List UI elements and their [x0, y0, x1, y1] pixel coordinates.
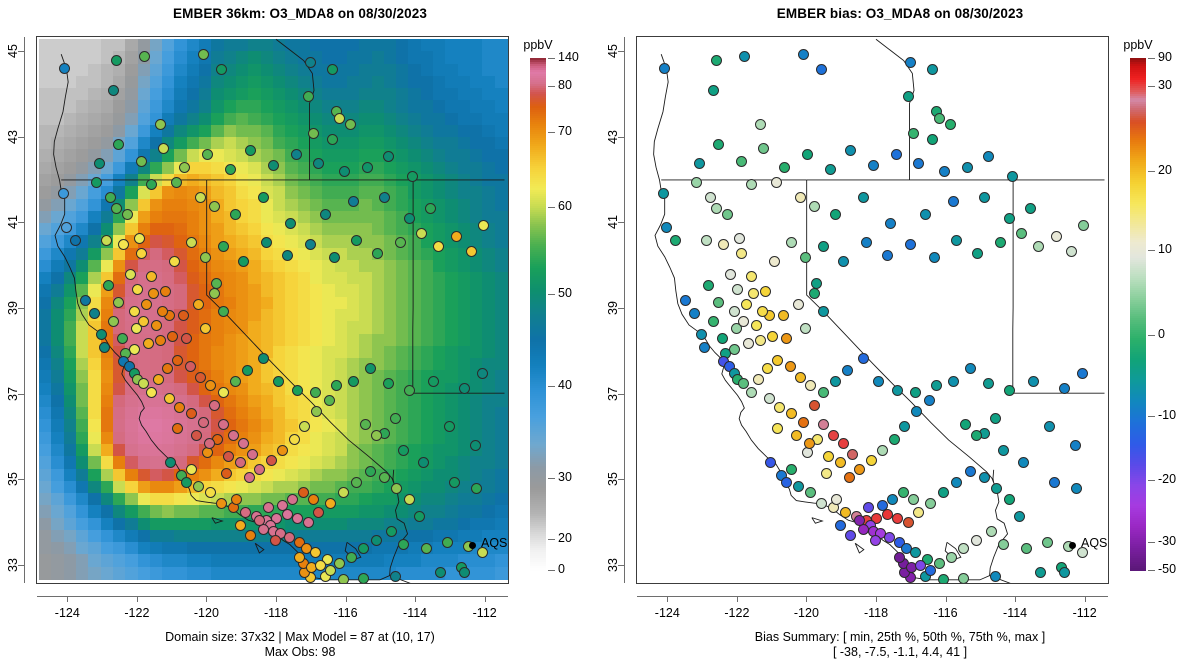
station-marker [414, 511, 425, 522]
x-tick-label: -112 [1060, 606, 1110, 620]
station-marker [1044, 421, 1055, 432]
station-marker [218, 419, 229, 430]
station-marker [1035, 567, 1046, 578]
station-marker [905, 57, 916, 68]
station-marker [811, 278, 822, 289]
station-marker [764, 393, 775, 404]
station-marker [284, 532, 295, 543]
x-tick-label: -124 [642, 606, 692, 620]
station-marker [877, 445, 888, 456]
station-marker [708, 85, 719, 96]
y-tick-label: 41 [5, 205, 21, 239]
station-marker [894, 552, 905, 563]
colorbar-tick-label: 70 [558, 124, 572, 138]
caption-bias-line2: [ -38, -7.5, -1.1, 4.4, 41 ] [600, 645, 1200, 660]
station-marker [898, 487, 909, 498]
station-marker [117, 333, 128, 344]
x-tick [67, 596, 68, 602]
station-marker [717, 333, 728, 344]
station-marker [694, 158, 705, 169]
station-marker [268, 160, 279, 171]
colorbar-tick [1148, 335, 1155, 336]
station-marker [938, 487, 949, 498]
colorbar-tick-label: 30 [558, 470, 572, 484]
colorbar-tick [1148, 86, 1155, 87]
station-marker [313, 507, 324, 518]
x-tick-label: -120 [781, 606, 831, 620]
station-marker [477, 368, 488, 379]
station-marker [774, 402, 785, 413]
station-marker [795, 192, 806, 203]
figure-root: EMBER 36km: O3_MDA8 on 08/30/2023 AQS -1… [0, 0, 1200, 672]
x-tick-label: -112 [460, 606, 510, 620]
station-marker [785, 361, 796, 372]
station-marker [94, 158, 105, 169]
x-tick-label: -122 [712, 606, 762, 620]
colorbar-tick-label: 90 [1158, 50, 1172, 64]
station-marker [680, 295, 691, 306]
station-marker [962, 162, 973, 173]
station-marker [840, 507, 851, 518]
y-tick-label: 37 [5, 377, 21, 411]
station-marker [658, 188, 669, 199]
station-marker [171, 177, 182, 188]
panel-right-title: EMBER bias: O3_MDA8 on 08/30/2023 [600, 6, 1200, 21]
x-tick [1015, 596, 1016, 602]
colorbar-tick [548, 86, 555, 87]
plot-area-bias[interactable]: AQS [636, 36, 1109, 584]
station-marker [459, 567, 470, 578]
station-marker [858, 353, 869, 364]
x-axis-line [37, 596, 508, 597]
station-marker [757, 306, 768, 317]
station-marker [905, 239, 916, 250]
map-outlines-model [37, 37, 508, 583]
panel-model: EMBER 36km: O3_MDA8 on 08/30/2023 AQS -1… [0, 0, 600, 672]
station-marker [108, 85, 119, 96]
station-marker [1007, 171, 1018, 182]
y-tick-label: 45 [5, 34, 21, 68]
station-marker [670, 235, 681, 246]
y-tick-label: 35 [5, 462, 21, 496]
station-marker [289, 434, 300, 445]
station-marker [908, 128, 919, 139]
station-marker [804, 438, 815, 449]
station-marker [1025, 203, 1036, 214]
station-marker [308, 128, 319, 139]
station-marker [282, 250, 293, 261]
station-marker [823, 451, 834, 462]
station-marker [258, 192, 269, 203]
station-marker [990, 413, 1001, 424]
station-marker [778, 310, 789, 321]
colorbar-tick-label: 0 [558, 562, 565, 576]
station-marker [292, 385, 303, 396]
colorbar-tick-label: 50 [558, 286, 572, 300]
colorbar-tick [548, 207, 555, 208]
station-marker [691, 177, 702, 188]
station-marker [404, 385, 415, 396]
plot-area-model[interactable]: AQS [36, 36, 509, 584]
colorbar-tick-label: -20 [1158, 472, 1176, 486]
x-tick [1085, 596, 1086, 602]
station-marker [329, 252, 340, 263]
station-marker [1077, 368, 1088, 379]
station-marker [1049, 477, 1060, 488]
colorbar-gradient [1130, 58, 1146, 570]
station-marker [105, 192, 116, 203]
station-marker [345, 119, 356, 130]
station-marker [701, 235, 712, 246]
station-marker [136, 248, 147, 259]
x-tick-label: -120 [181, 606, 231, 620]
station-marker [218, 306, 229, 317]
station-marker [971, 430, 982, 441]
station-marker [934, 113, 945, 124]
station-marker [1051, 231, 1062, 242]
station-marker [291, 149, 302, 160]
station-marker [164, 393, 175, 404]
station-marker [887, 494, 898, 505]
station-marker [371, 430, 382, 441]
station-marker [200, 323, 211, 334]
station-marker [818, 306, 829, 317]
station-marker [889, 434, 900, 445]
station-marker [270, 535, 281, 546]
station-marker [327, 64, 338, 75]
colorbar-tick [1148, 171, 1155, 172]
station-marker [781, 477, 792, 488]
station-marker [325, 565, 336, 576]
x-tick [346, 596, 347, 602]
station-marker [70, 235, 81, 246]
station-marker [908, 494, 919, 505]
station-marker [305, 57, 316, 68]
x-tick [667, 596, 668, 602]
station-marker [451, 231, 462, 242]
station-marker [729, 306, 740, 317]
colorbar-tick [1148, 416, 1155, 417]
station-marker [157, 306, 168, 317]
station-marker [877, 500, 888, 511]
y-tick-label: 43 [605, 120, 621, 154]
station-marker [816, 498, 827, 509]
station-marker [891, 149, 902, 160]
station-marker [703, 280, 714, 291]
station-marker [659, 63, 670, 74]
x-tick [485, 596, 486, 602]
colorbar-tick [1148, 570, 1155, 571]
station-marker [216, 498, 227, 509]
colorbar-tick-label: 60 [558, 199, 572, 213]
station-marker [972, 248, 983, 259]
colorbar-tick [548, 478, 555, 479]
station-marker [1059, 567, 1070, 578]
station-marker [983, 378, 994, 389]
station-marker [990, 571, 1001, 582]
station-marker [884, 532, 895, 543]
station-marker [287, 494, 298, 505]
station-marker [1018, 457, 1029, 468]
station-marker [858, 192, 869, 203]
station-marker [425, 203, 436, 214]
station-marker [892, 385, 903, 396]
station-marker [931, 380, 942, 391]
station-marker [195, 372, 206, 383]
station-marker [854, 464, 865, 475]
y-tick-label: 39 [605, 291, 621, 325]
station-marker [223, 451, 234, 462]
colorbar-tick-label: -30 [1158, 534, 1176, 548]
station-marker [913, 158, 924, 169]
station-marker [230, 376, 241, 387]
x-tick [415, 596, 416, 602]
station-marker [390, 571, 401, 582]
station-marker [395, 237, 406, 248]
colorbar-tick [548, 132, 555, 133]
station-marker [113, 139, 124, 150]
colorbar-gradient [530, 58, 546, 570]
station-marker [828, 430, 839, 441]
map-outlines-bias [637, 37, 1108, 583]
station-marker [830, 376, 841, 387]
x-tick [206, 596, 207, 602]
station-marker [372, 248, 383, 259]
x-tick [137, 596, 138, 602]
colorbar-tick [548, 570, 555, 571]
station-marker [216, 64, 227, 75]
station-marker [444, 421, 455, 432]
station-marker [324, 395, 335, 406]
station-marker [835, 520, 846, 531]
station-marker [225, 164, 236, 175]
station-marker [910, 387, 921, 398]
station-marker [371, 535, 382, 546]
x-tick-label: -124 [42, 606, 92, 620]
y-tick-label: 45 [605, 34, 621, 68]
x-tick [946, 596, 947, 602]
panel-bias: EMBER bias: O3_MDA8 on 08/30/2023 AQS -1… [600, 0, 1200, 672]
station-marker [1066, 246, 1077, 257]
station-marker [407, 171, 418, 182]
station-marker [334, 113, 345, 124]
station-marker [80, 295, 91, 306]
station-marker [228, 430, 239, 441]
station-marker [882, 250, 893, 261]
station-marker [101, 235, 112, 246]
station-marker [209, 201, 220, 212]
station-marker [466, 246, 477, 257]
station-marker [313, 158, 324, 169]
station-marker [459, 383, 470, 394]
y-tick-label: 33 [5, 548, 21, 582]
station-marker [240, 507, 251, 518]
y-tick-label: 39 [5, 291, 21, 325]
x-tick [737, 596, 738, 602]
station-marker [442, 537, 453, 548]
station-marker [818, 419, 829, 430]
colorbar-tick [548, 294, 555, 295]
y-tick-label: 37 [605, 377, 621, 411]
panel-left-title: EMBER 36km: O3_MDA8 on 08/30/2023 [0, 6, 600, 21]
station-marker [435, 567, 446, 578]
station-marker [258, 353, 269, 364]
x-tick [276, 596, 277, 602]
colorbar-tick-label: 0 [1158, 327, 1165, 341]
colorbar-tick-label: 20 [1158, 163, 1172, 177]
station-marker [946, 552, 957, 563]
station-marker [800, 323, 811, 334]
station-marker [713, 139, 724, 150]
station-marker [689, 308, 700, 319]
station-marker [174, 402, 185, 413]
station-marker [449, 477, 460, 488]
station-marker [383, 378, 394, 389]
station-marker [870, 535, 881, 546]
x-tick-label: -122 [112, 606, 162, 620]
station-marker [1004, 385, 1015, 396]
station-marker [61, 222, 72, 233]
colorbar-tick [1148, 480, 1155, 481]
station-marker [235, 520, 246, 531]
station-marker [254, 464, 265, 475]
station-marker [247, 449, 258, 460]
colorbar-tick-label: -50 [1158, 562, 1176, 576]
station-marker [736, 248, 747, 259]
station-marker [338, 574, 349, 584]
x-tick-label: -114 [390, 606, 440, 620]
aqs-legend-dot [1069, 542, 1076, 549]
colorbar-tick-label: -10 [1158, 408, 1176, 422]
station-marker [346, 552, 357, 563]
colorbar-tick-label: 140 [558, 50, 579, 64]
station-marker [830, 209, 841, 220]
station-marker [143, 338, 154, 349]
station-marker [825, 164, 836, 175]
y-tick-label: 41 [605, 205, 621, 239]
station-marker [138, 316, 149, 327]
station-marker [868, 160, 879, 171]
y-tick-label: 43 [5, 120, 21, 154]
colorbar-tick-label: 80 [558, 78, 572, 92]
aqs-legend-dot [469, 542, 476, 549]
station-marker [771, 177, 782, 188]
colorbar-tick-label: 20 [558, 531, 572, 545]
y-tick-label: 33 [605, 548, 621, 582]
station-marker [362, 162, 373, 173]
y-tick-label: 35 [605, 462, 621, 496]
x-tick [806, 596, 807, 602]
station-marker [103, 280, 114, 291]
station-marker [929, 252, 940, 263]
station-marker [995, 237, 1006, 248]
colorbar-tick [548, 539, 555, 540]
x-tick-label: -116 [921, 606, 971, 620]
caption-model-line2: Max Obs: 98 [0, 645, 600, 660]
station-marker [736, 156, 747, 167]
station-marker [89, 308, 100, 319]
station-marker [1059, 383, 1070, 394]
station-marker [308, 494, 319, 505]
station-marker [195, 192, 206, 203]
colorbar-tick [1148, 250, 1155, 251]
station-marker [945, 119, 956, 130]
station-marker [261, 237, 272, 248]
station-marker [809, 201, 820, 212]
station-marker [96, 329, 107, 340]
station-marker [58, 188, 69, 199]
station-marker [816, 64, 827, 75]
colorbar-tick-label: 40 [558, 378, 572, 392]
station-marker [1004, 494, 1015, 505]
x-tick [876, 596, 877, 602]
station-marker [181, 477, 192, 488]
x-axis-line [637, 596, 1108, 597]
station-marker [338, 487, 349, 498]
station-marker [91, 177, 102, 188]
station-marker [705, 192, 716, 203]
station-marker [129, 306, 140, 317]
y-axis-line [24, 37, 25, 583]
aqs-legend-label: AQS [481, 536, 507, 550]
station-marker [277, 445, 288, 456]
station-marker [795, 372, 806, 383]
station-marker [1042, 537, 1053, 548]
colorbar-tick [1148, 542, 1155, 543]
station-marker [738, 316, 749, 327]
station-marker [390, 413, 401, 424]
station-marker [696, 329, 707, 340]
station-marker [927, 64, 938, 75]
station-marker [418, 457, 429, 468]
station-marker [331, 380, 342, 391]
station-marker [136, 156, 147, 167]
colorbar-tick [1148, 58, 1155, 59]
station-marker [298, 487, 309, 498]
colorbar-tick-label: 10 [1158, 242, 1172, 256]
x-tick-label: -118 [251, 606, 301, 620]
station-marker [230, 209, 241, 220]
y-axis-line [624, 37, 625, 583]
caption-bias-line1: Bias Summary: [ min, 25th %, 50th %, 75t… [600, 630, 1200, 645]
station-marker [661, 222, 672, 233]
station-marker [218, 241, 229, 252]
station-marker [204, 438, 215, 449]
station-marker [743, 338, 754, 349]
station-marker [277, 500, 288, 511]
station-marker [310, 387, 321, 398]
station-marker [294, 552, 305, 563]
station-marker [861, 237, 872, 248]
station-marker [1014, 511, 1025, 522]
station-marker [211, 278, 222, 289]
station-marker [134, 233, 145, 244]
station-marker [818, 241, 829, 252]
station-marker [925, 565, 936, 576]
x-tick-label: -116 [321, 606, 371, 620]
station-marker [809, 400, 820, 411]
station-marker [847, 449, 858, 460]
station-marker [59, 63, 70, 74]
station-marker [404, 494, 415, 505]
colorbar-tick [548, 58, 555, 59]
colorbar-tick-label: 30 [1158, 78, 1172, 92]
aqs-legend-label: AQS [1081, 536, 1107, 550]
station-marker [218, 387, 229, 398]
station-marker [913, 507, 924, 518]
colorbar-tick [548, 386, 555, 387]
station-marker [938, 574, 949, 584]
